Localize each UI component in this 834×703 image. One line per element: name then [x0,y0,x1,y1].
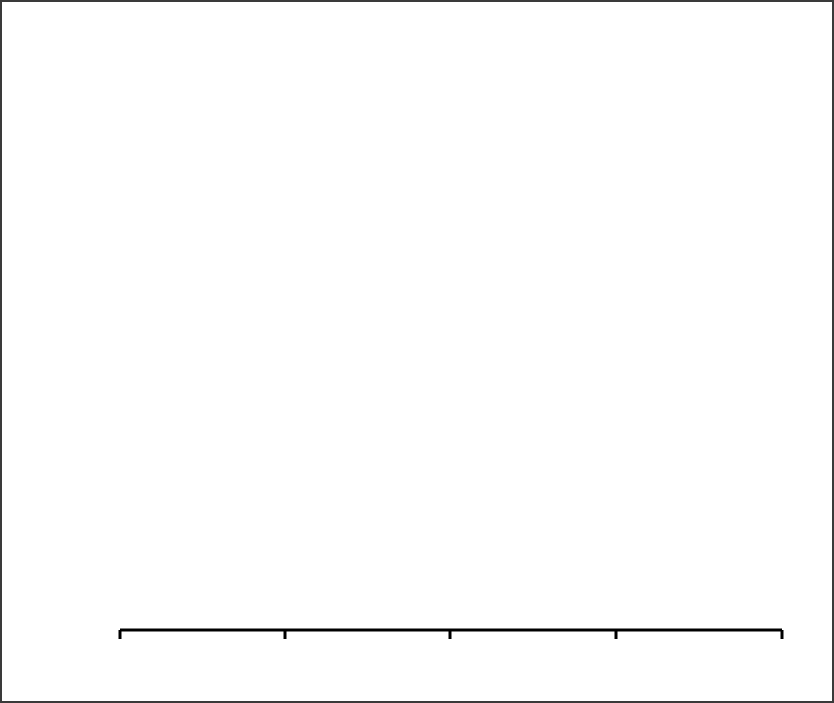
dendrogram-figure [0,0,834,703]
x-axis [120,630,782,639]
dendrogram-plot [2,2,834,703]
